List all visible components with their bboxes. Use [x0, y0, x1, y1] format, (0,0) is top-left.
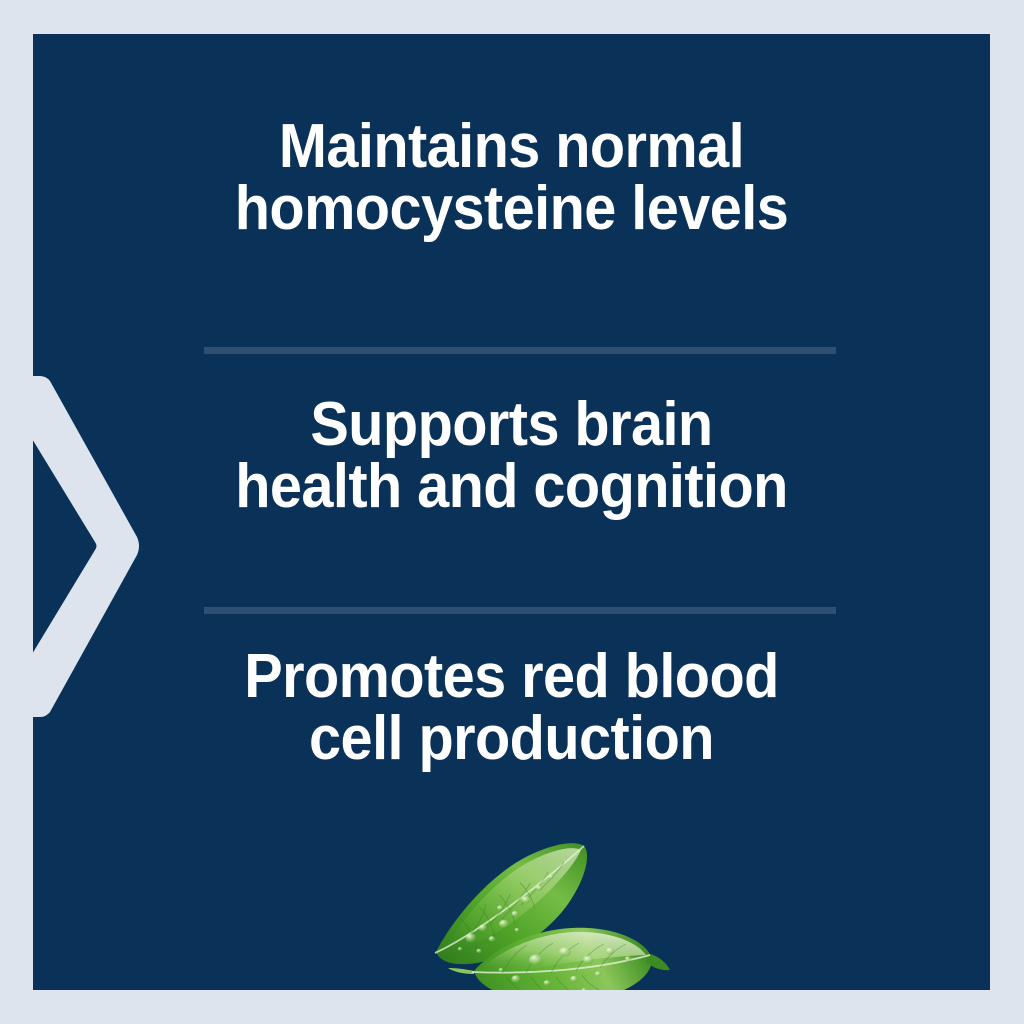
- benefit-item-3: Promotes red blood cell production: [66, 646, 956, 770]
- divider-1: [204, 347, 836, 354]
- benefit-2-line-1: Supports brain: [66, 394, 956, 456]
- benefits-panel: Maintains normal homocysteine levels Sup…: [33, 34, 990, 990]
- benefit-item-2: Supports brain health and cognition: [66, 394, 956, 518]
- divider-2: [204, 607, 836, 614]
- benefit-2-line-2: health and cognition: [66, 456, 956, 518]
- graphic-canvas: Maintains normal homocysteine levels Sup…: [0, 0, 1024, 1024]
- benefit-3-line-2: cell production: [66, 708, 956, 770]
- benefit-1-line-1: Maintains normal: [66, 116, 956, 178]
- green-leaves-decoration: [388, 804, 688, 990]
- benefit-3-line-1: Promotes red blood: [66, 646, 956, 708]
- benefit-1-line-2: homocysteine levels: [66, 178, 956, 240]
- benefit-item-1: Maintains normal homocysteine levels: [66, 116, 956, 240]
